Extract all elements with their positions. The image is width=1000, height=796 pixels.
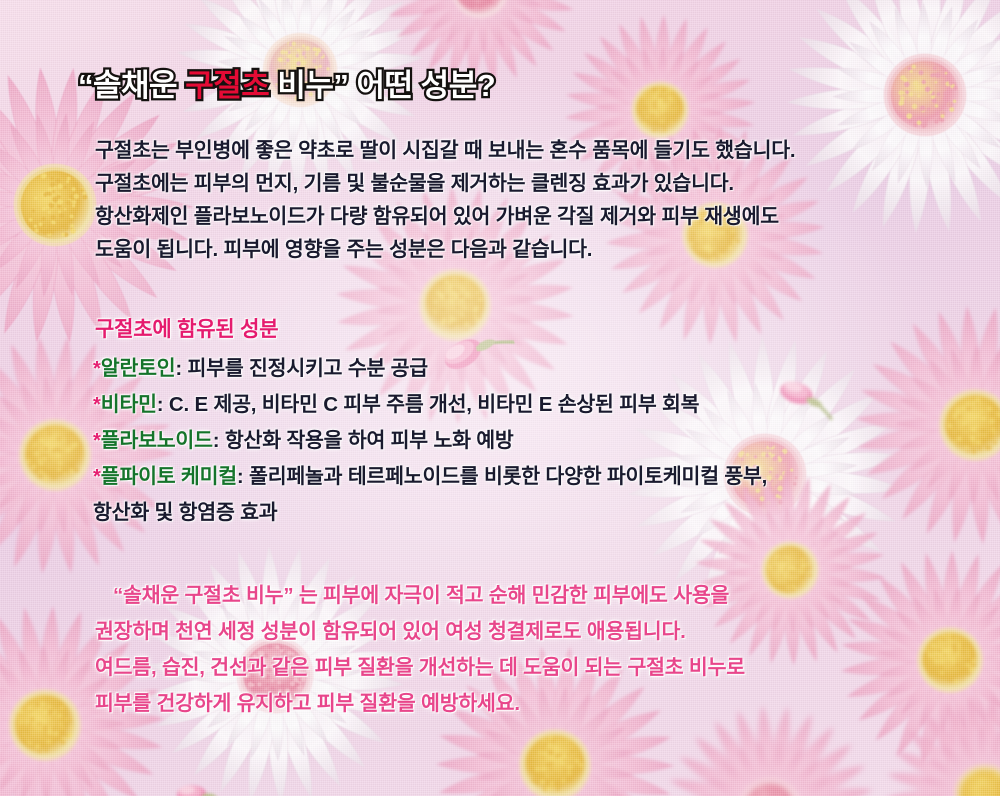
ingredient-description: 항산화 작용을 하여 피부 노화 예방 xyxy=(225,429,514,452)
ingredient-name: 비타민 xyxy=(101,393,157,416)
list-item: *플파이토 케미컬: 폴리페놀과 테르페노이드를 비롯한 다양한 파이토케미컬 … xyxy=(93,459,973,495)
section-heading-ingredients: 구절초에 함유된 성분 xyxy=(95,313,278,343)
ingredient-name: 알란토인 xyxy=(101,357,176,380)
page-title: “솔채운 구절초 비누” 어떤 성분? xyxy=(78,60,495,105)
intro-paragraph: 구절초는 부인병에 좋은 약초로 딸이 시집갈 때 보내는 혼수 품목에 들기도… xyxy=(95,134,955,266)
intro-line: 도움이 됩니다. 피부에 영향을 주는 성분은 다음과 같습니다. xyxy=(95,233,955,266)
ingredient-description: C. E 제공, 비타민 C 피부 주름 개선, 비타민 E 손상된 피부 회복 xyxy=(169,393,699,416)
title-highlight-gujeolcho: 구절초 xyxy=(185,68,269,103)
bullet-marker-icon: * xyxy=(93,393,101,416)
title-part-2: 비누” 어떤 성분? xyxy=(269,68,495,103)
ingredient-separator: : xyxy=(237,465,249,488)
list-item-continuation: 항산화 및 항염증 효과 xyxy=(93,495,973,531)
poster-canvas: “솔채운 구절초 비누” 어떤 성분? 구절초는 부인병에 좋은 약초로 딸이 … xyxy=(0,0,1000,796)
ingredient-description: 피부를 진정시키고 수분 공급 xyxy=(188,357,428,380)
ingredient-list: *알란토인: 피부를 진정시키고 수분 공급 *비타민: C. E 제공, 비타… xyxy=(93,351,973,531)
closing-line: 권장하며 천연 세정 성분이 함유되어 있어 여성 청결제로도 애용됩니다. xyxy=(95,614,975,650)
list-item: *비타민: C. E 제공, 비타민 C 피부 주름 개선, 비타민 E 손상된… xyxy=(93,387,973,423)
bullet-marker-icon: * xyxy=(93,429,101,452)
bullet-marker-icon: * xyxy=(93,357,101,380)
list-item: *알란토인: 피부를 진정시키고 수분 공급 xyxy=(93,351,973,387)
list-item: *플라보노이드: 항산화 작용을 하여 피부 노화 예방 xyxy=(93,423,973,459)
intro-line: 구절초는 부인병에 좋은 약초로 딸이 시집갈 때 보내는 혼수 품목에 들기도… xyxy=(95,134,955,167)
intro-line: 항산화제인 플라보노이드가 다량 함유되어 있어 가벼운 각질 제거와 피부 재… xyxy=(95,200,955,233)
ingredient-description: 폴리페놀과 테르페노이드를 비롯한 다양한 파이토케미컬 풍부, xyxy=(249,465,767,488)
closing-paragraph: “솔채운 구절초 비누” 는 피부에 자극이 적고 순해 민감한 피부에도 사용… xyxy=(95,578,975,722)
ingredient-separator: : xyxy=(175,357,187,380)
ingredient-separator: : xyxy=(213,429,225,452)
ingredient-name: 플파이토 케미컬 xyxy=(101,465,237,488)
closing-line: “솔채운 구절초 비누” 는 피부에 자극이 적고 순해 민감한 피부에도 사용… xyxy=(95,578,975,614)
closing-line: 여드름, 습진, 건선과 같은 피부 질환을 개선하는 데 도움이 되는 구절초… xyxy=(95,650,975,686)
bullet-marker-icon: * xyxy=(93,465,101,488)
title-part-1: “솔채운 xyxy=(78,68,185,103)
ingredient-separator: : xyxy=(157,393,169,416)
intro-line: 구절초에는 피부의 먼지, 기름 및 불순물을 제거하는 클렌징 효과가 있습니… xyxy=(95,167,955,200)
closing-line: 피부를 건강하게 유지하고 피부 질환을 예방하세요. xyxy=(95,686,975,722)
ingredient-name: 플라보노이드 xyxy=(101,429,213,452)
